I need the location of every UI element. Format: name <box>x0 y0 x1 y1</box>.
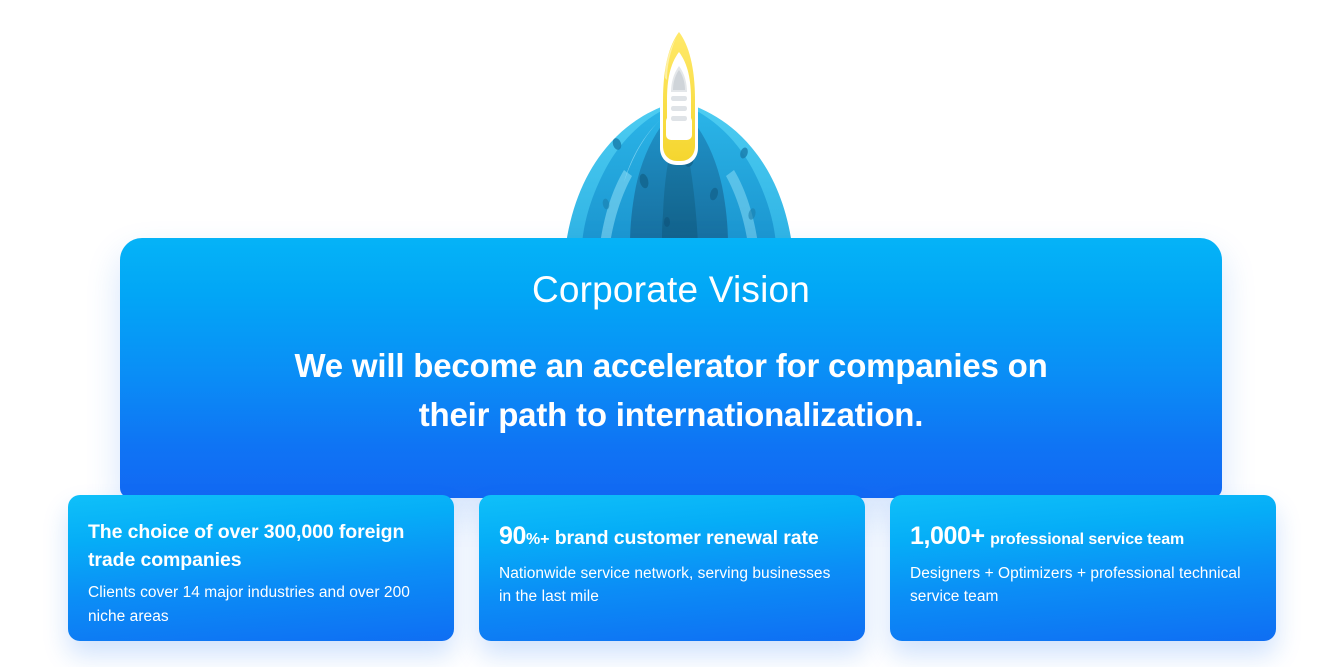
stat-subtitle: Clients cover 14 major industries and ov… <box>88 581 428 629</box>
speedboat-wake-illustration <box>538 8 820 246</box>
stat-card-renewal[interactable]: 90%+ brand customer renewal rate Nationw… <box>479 495 865 641</box>
headline-line-2: their path to internationalization. <box>419 396 924 433</box>
stat-headline-text: The choice of over 300,000 foreign trade… <box>88 521 404 571</box>
stat-headline: 1,000+ professional service team <box>910 519 1250 555</box>
stat-headline-text: brand customer renewal rate <box>555 527 819 549</box>
vision-headline: We will become an accelerator for compan… <box>190 342 1152 440</box>
stat-card-row: The choice of over 300,000 foreign trade… <box>68 495 1276 641</box>
stat-card-choice[interactable]: The choice of over 300,000 foreign trade… <box>68 495 454 641</box>
headline-line-1: We will become an accelerator for compan… <box>294 347 1047 384</box>
stat-suffix: %+ <box>526 531 549 548</box>
stat-number: 90 <box>499 522 526 550</box>
stat-headline: The choice of over 300,000 foreign trade… <box>88 519 428 574</box>
corporate-vision-section: Corporate Vision We will become an accel… <box>0 0 1344 667</box>
stat-headline: 90%+ brand customer renewal rate <box>499 519 839 555</box>
page-title: Corporate Vision <box>120 270 1222 311</box>
stat-subtitle: Designers + Optimizers + professional te… <box>910 562 1250 610</box>
stat-card-team[interactable]: 1,000+ professional service team Designe… <box>890 495 1276 641</box>
vision-panel: Corporate Vision We will become an accel… <box>120 238 1222 498</box>
stat-headline-text: professional service team <box>990 531 1184 548</box>
stat-number: 1,000+ <box>910 522 985 550</box>
stat-subtitle: Nationwide service network, serving busi… <box>499 562 839 610</box>
